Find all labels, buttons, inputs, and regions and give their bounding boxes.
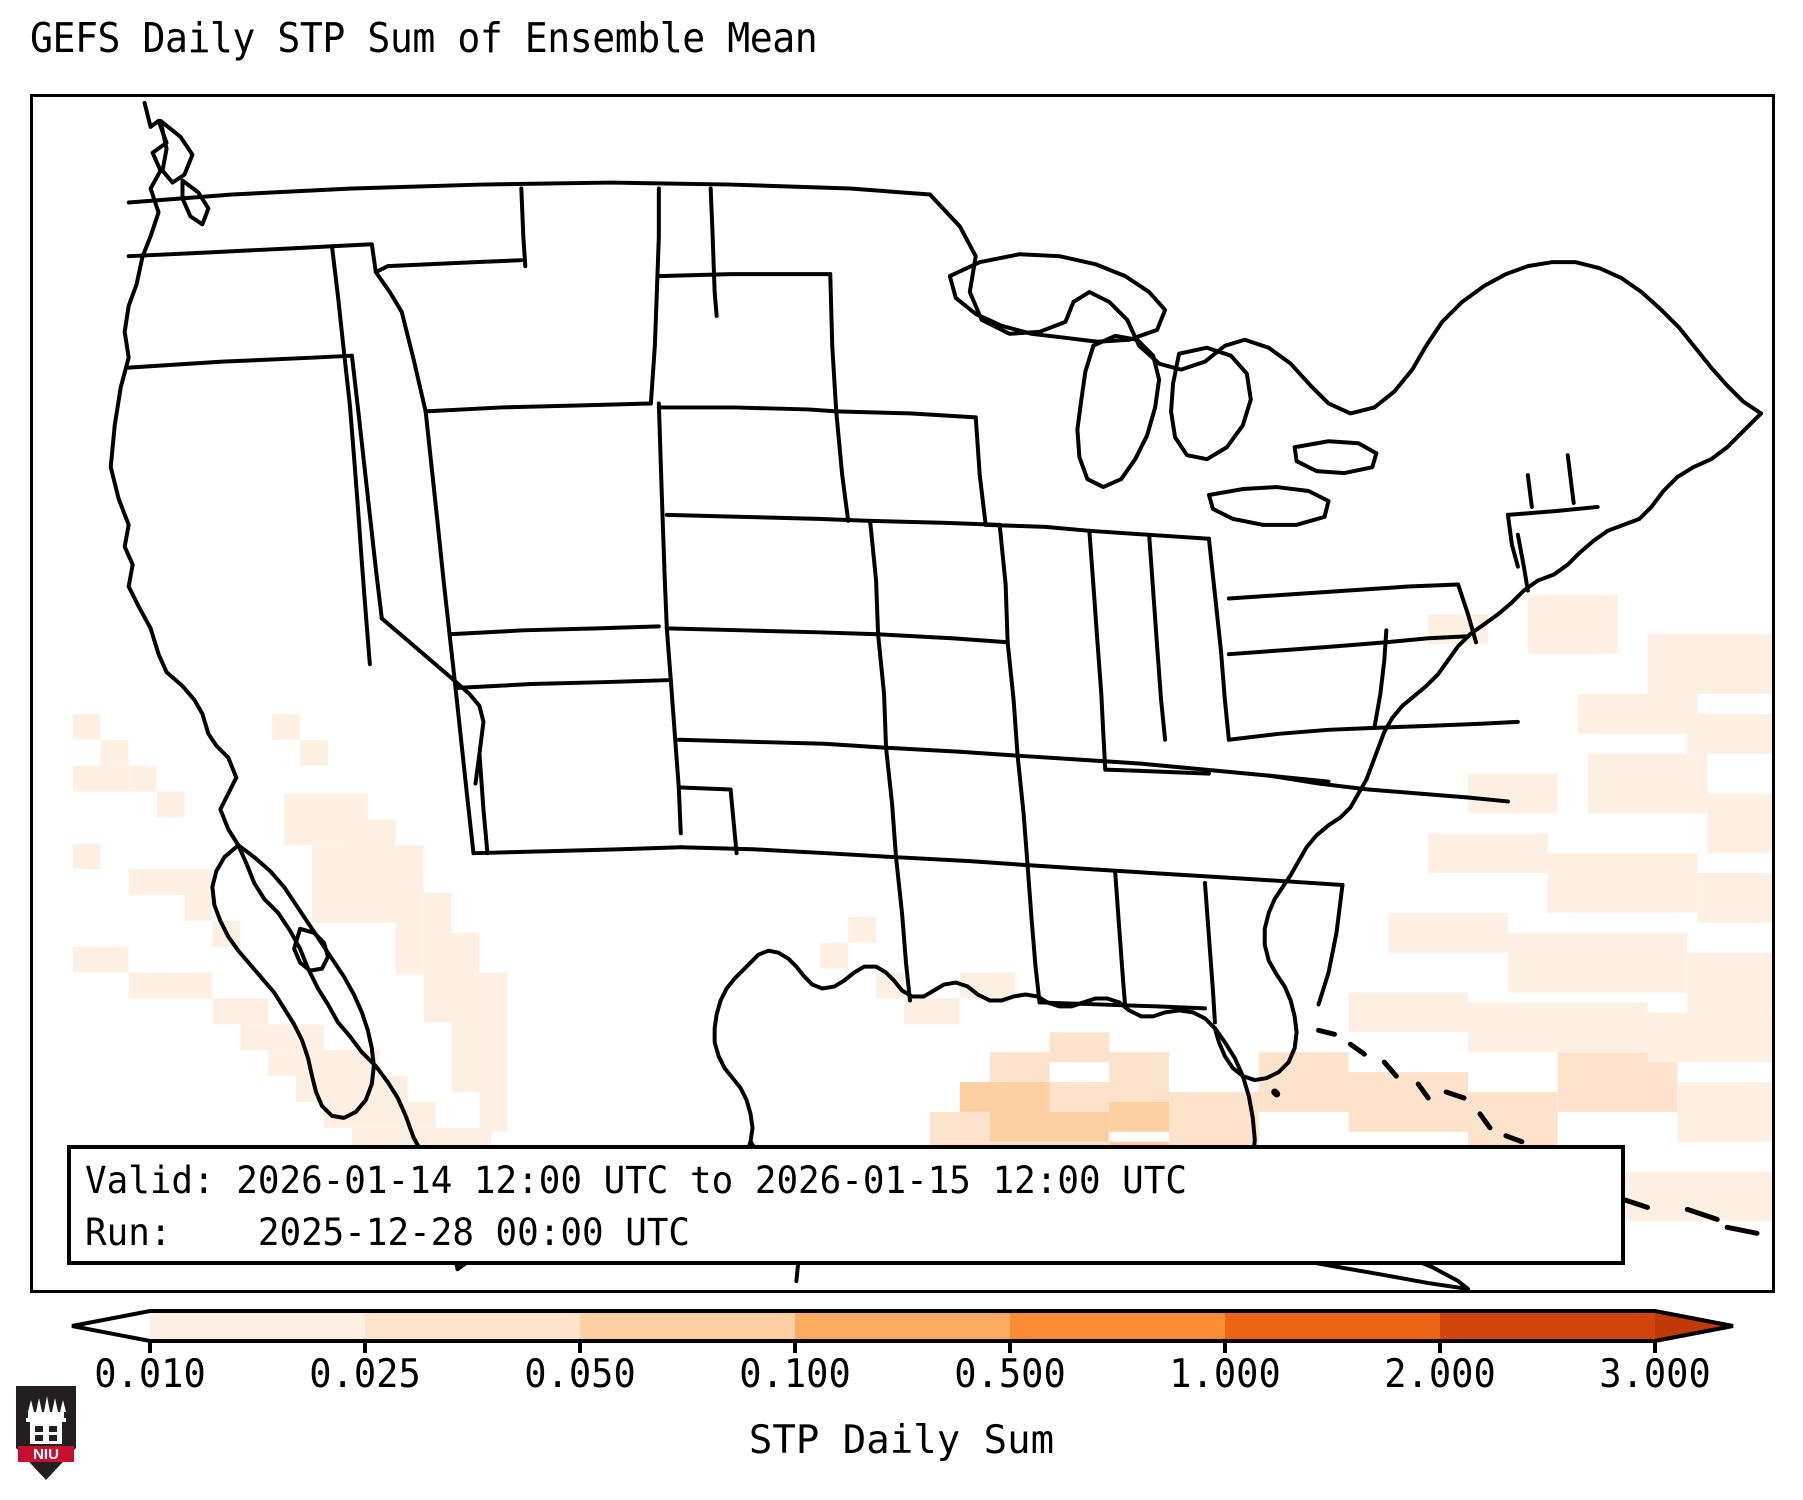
colorbar-band <box>580 1311 795 1341</box>
sd-mn-vert <box>836 411 848 520</box>
page-title: GEFS Daily STP Sum of Ensemble Mean <box>30 14 817 62</box>
il-in-border <box>1089 531 1105 770</box>
colorbar-tick-label: 0.025 <box>309 1352 421 1397</box>
ia-mo-border <box>878 634 1008 642</box>
state-boundaries <box>129 189 1598 1023</box>
nj-ny <box>1458 585 1476 643</box>
ga-sc-border <box>1319 885 1343 1004</box>
colorbar-band <box>365 1311 580 1341</box>
colorbar-over-arrow <box>1655 1311 1733 1341</box>
ne-ks-border <box>667 628 878 634</box>
wv-va-pa <box>1229 728 1374 740</box>
colorbar-tick-label: 0.100 <box>739 1352 851 1397</box>
run-time-text: Run: 2025-12-28 00:00 UTC <box>85 1207 1561 1259</box>
colorbar-band <box>1440 1311 1655 1341</box>
ne-ia-vert <box>870 521 878 634</box>
oh-pa-wv <box>1209 539 1229 740</box>
colorbar-tick-label: 0.010 <box>94 1352 206 1397</box>
ia-mn-border <box>870 521 1000 525</box>
al-ga-vert <box>1205 883 1215 1022</box>
colorbar-title: STP Daily Sum <box>0 1418 1803 1463</box>
ut-az-co-nm <box>456 680 671 688</box>
ny-ct-ma <box>1508 515 1518 567</box>
ma-ny-vt-nh <box>1508 507 1598 515</box>
pa-md-wv-line <box>1229 642 1386 654</box>
puget-islands <box>182 181 208 225</box>
vancouver-island <box>161 121 193 183</box>
logo-text: NIU <box>33 1446 59 1463</box>
mn-wi-vert <box>976 417 986 524</box>
ms-al-vert <box>1115 873 1125 1006</box>
pa-nj-md <box>1386 636 1468 642</box>
ut-nv-az <box>456 688 474 853</box>
colorbar-tick-labels: 0.0100.0250.0500.1000.5001.0002.0003.000 <box>0 1352 1803 1412</box>
coastline-group <box>111 103 1761 1290</box>
ks-mo-vert <box>878 634 886 747</box>
forecast-info-box: Valid: 2026-01-14 12:00 UTC to 2026-01-1… <box>67 1145 1625 1265</box>
east-coast-line <box>1215 413 1761 1080</box>
pa-ny-border <box>1229 585 1458 599</box>
wy-co-border <box>450 626 659 634</box>
ia-il-vert <box>1000 525 1008 642</box>
niu-logo: NIU <box>14 1382 78 1482</box>
map-plot-area <box>30 94 1775 1293</box>
nc-sc-north <box>1368 790 1508 802</box>
ct-ny <box>1518 535 1528 591</box>
colorbar[interactable] <box>0 1303 1803 1353</box>
az-nm-border <box>479 754 487 853</box>
colorbar-band <box>1010 1311 1225 1341</box>
wy-ut-id <box>426 411 456 688</box>
mo-il-vert <box>1008 642 1018 755</box>
wa-or-border <box>129 246 332 256</box>
nd-mn-vert <box>830 274 836 411</box>
colorbar-band <box>150 1311 365 1341</box>
us-canada-border-west <box>129 183 930 203</box>
la-ms-vert <box>1028 865 1040 1002</box>
nh-me-border <box>1568 455 1574 503</box>
nd-sd-border <box>659 407 836 411</box>
sd-ne-border <box>667 515 870 521</box>
lake-michigan <box>1077 336 1159 487</box>
colorbar-under-arrow <box>72 1311 150 1341</box>
ks-ok-border <box>679 740 886 748</box>
colorbar-tick-label: 0.050 <box>524 1352 636 1397</box>
lake-ontario <box>1295 441 1377 473</box>
va-nc-border <box>1374 722 1518 728</box>
az-nm-south <box>473 847 680 853</box>
ar-la-border <box>896 857 1028 865</box>
colorbar-band <box>1225 1311 1440 1341</box>
or-ca-border <box>129 356 352 368</box>
co-ks-nm-ok <box>667 628 681 833</box>
canada-border-east <box>930 195 1761 414</box>
colorbar-tick-label: 2.000 <box>1384 1352 1496 1397</box>
ok-ar-vert <box>886 748 896 857</box>
mt-nd-sd <box>651 189 659 404</box>
in-oh-border <box>1149 535 1165 740</box>
baja-peninsula <box>212 845 373 1118</box>
ok-panhandle <box>681 788 737 854</box>
colorbar-tick-label: 0.500 <box>954 1352 1066 1397</box>
colorbar-band <box>795 1311 1010 1341</box>
colorbar-tick-label: 3.000 <box>1599 1352 1711 1397</box>
mt-north-div <box>521 189 525 267</box>
nd-mn-north <box>711 189 717 316</box>
tx-la-vert <box>896 857 910 1000</box>
sd-mn-ia <box>836 411 976 417</box>
id-wy-mt-wy <box>426 403 651 411</box>
west-coast-line <box>111 103 458 1269</box>
mt-internal <box>376 260 521 272</box>
lake-huron <box>1171 348 1251 459</box>
us-map-outlines <box>33 97 1772 1290</box>
vt-nh-border <box>1528 475 1532 507</box>
valid-time-text: Valid: 2026-01-14 12:00 UTC to 2026-01-1… <box>85 1155 1561 1207</box>
lake-erie <box>1209 487 1329 525</box>
tn-nc-north <box>1269 776 1369 790</box>
ar-tn-ms-vert <box>1018 756 1028 865</box>
ca-nv-az <box>382 618 484 783</box>
ok-tx-border <box>681 847 896 857</box>
nd-sd-north <box>659 274 830 276</box>
colorbar-tick-label: 1.000 <box>1169 1352 1281 1397</box>
gulf-coast-line <box>715 951 1215 1142</box>
mo-ar-border <box>886 748 1018 756</box>
